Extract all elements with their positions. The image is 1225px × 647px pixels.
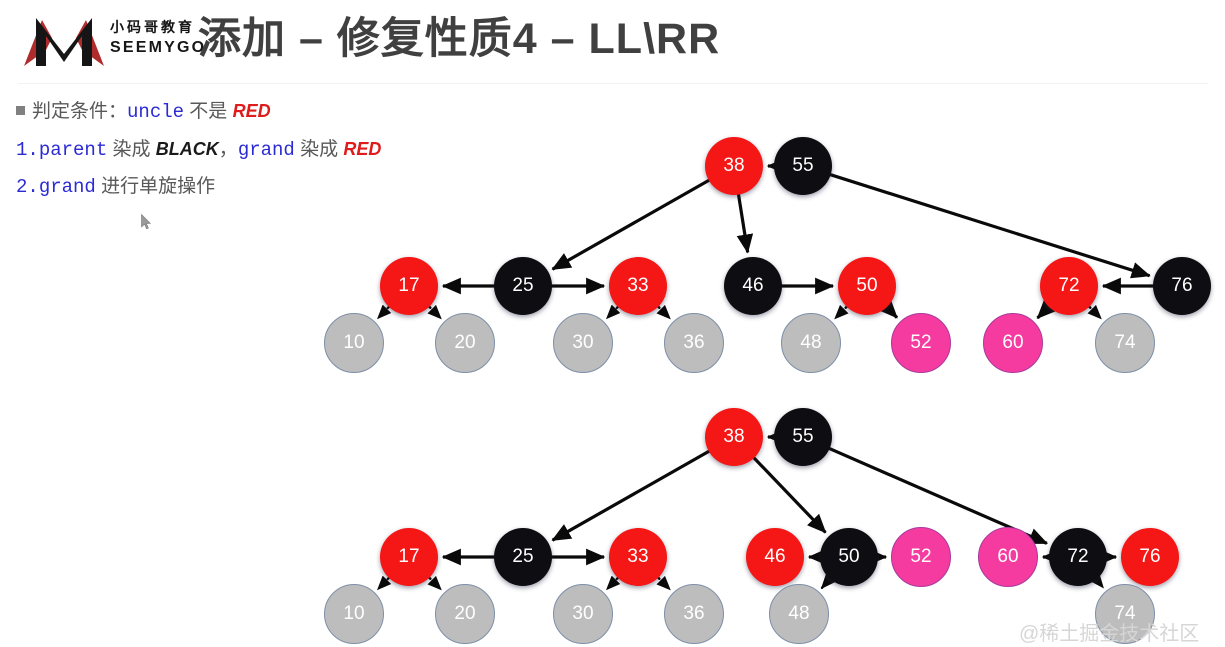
square-bullet-icon	[16, 106, 25, 115]
bullet-line-3: 2.grand 进行单旋操作	[16, 168, 486, 206]
tree-node-76-after-rotation: 76	[1121, 528, 1179, 586]
tree-node-38-after-rotation: 38	[705, 408, 763, 466]
tree-edge	[553, 451, 710, 540]
tree-node-33-after-rotation: 33	[609, 528, 667, 586]
tree-node-36-after-rotation: 36	[664, 584, 724, 644]
mouse-cursor-icon	[141, 214, 151, 230]
brand-wordmark: 小码哥教育 SEEMYGO	[110, 18, 186, 58]
tree-node-25-after-rotation: 25	[494, 528, 552, 586]
tree-node-25-before-rotation: 25	[494, 257, 552, 315]
tree-edge	[607, 577, 618, 589]
tree-node-17-after-rotation: 17	[380, 528, 438, 586]
header-divider	[18, 83, 1208, 84]
slide-canvas: 小码哥教育 SEEMYGO 添加 – 修复性质4 – LL\RR 判定条件：un…	[0, 0, 1225, 647]
step-1-comma: ，	[219, 139, 238, 160]
tree-node-38-before-rotation: 38	[705, 137, 763, 195]
tree-edge	[378, 577, 389, 589]
tree-node-55-after-rotation: 55	[774, 408, 832, 466]
page-title: 添加 – 修复性质4 – LL\RR	[198, 8, 720, 70]
brand-en: SEEMYGO	[110, 38, 186, 58]
bullet-line-2: 1.parent 染成 BLACK，grand 染成 RED	[16, 130, 486, 168]
step-2-text: 进行单旋操作	[96, 176, 215, 197]
tree-edge	[753, 457, 825, 532]
tree-node-46-before-rotation: 46	[724, 257, 782, 315]
tree-edge	[738, 194, 747, 253]
step-1-index: 1.	[16, 139, 39, 161]
tree-edge	[429, 306, 441, 318]
tree-edge	[1038, 306, 1050, 318]
tree-node-30-before-rotation: 30	[553, 313, 613, 373]
tree-node-10-after-rotation: 10	[324, 584, 384, 644]
seemygo-mountain-logo-icon	[22, 14, 106, 68]
tree-edge	[658, 577, 670, 589]
tree-node-55-before-rotation: 55	[774, 137, 832, 195]
bullet-list: 判定条件：uncle 不是 RED 1.parent 染成 BLACK，gran…	[16, 92, 486, 206]
bullet-line-1: 判定条件：uncle 不是 RED	[16, 92, 486, 130]
step-2-index: 2.	[16, 176, 39, 198]
tree-edge	[378, 306, 389, 318]
tree-edge	[822, 578, 830, 588]
keyword-red-2: RED	[343, 139, 381, 159]
code-uncle: uncle	[127, 101, 184, 123]
code-parent: parent	[39, 139, 107, 161]
code-grand-1: grand	[238, 139, 295, 161]
tree-edge	[886, 306, 897, 317]
brand-cn: 小码哥教育	[110, 18, 186, 36]
keyword-red: RED	[233, 101, 271, 121]
tree-node-36-before-rotation: 36	[664, 313, 724, 373]
tree-node-76-before-rotation: 76	[1153, 257, 1211, 315]
tree-node-33-before-rotation: 33	[609, 257, 667, 315]
tree-node-60-after-rotation: 60	[978, 527, 1038, 587]
slide-header: 小码哥教育 SEEMYGO 添加 – 修复性质4 – LL\RR	[0, 0, 1225, 80]
tree-node-74-before-rotation: 74	[1095, 313, 1155, 373]
tree-edge	[658, 306, 670, 318]
tree-node-30-after-rotation: 30	[553, 584, 613, 644]
tree-node-48-before-rotation: 48	[781, 313, 841, 373]
tree-node-50-after-rotation: 50	[820, 528, 878, 586]
tree-node-46-after-rotation: 46	[746, 528, 804, 586]
tree-node-60-before-rotation: 60	[983, 313, 1043, 373]
condition-mid: 不是	[184, 101, 233, 122]
tree-edge	[1089, 306, 1101, 318]
tree-node-52-before-rotation: 52	[891, 313, 951, 373]
tree-edge	[553, 180, 710, 269]
tree-node-17-before-rotation: 17	[380, 257, 438, 315]
tree-edge	[836, 306, 848, 318]
tree-node-72-before-rotation: 72	[1040, 257, 1098, 315]
condition-label: 判定条件：	[32, 101, 127, 122]
tree-edge	[429, 577, 441, 589]
brand-logo: 小码哥教育 SEEMYGO	[22, 12, 184, 70]
tree-edge	[1096, 579, 1103, 587]
code-grand-2: grand	[39, 176, 96, 198]
tree-node-72-after-rotation: 72	[1049, 528, 1107, 586]
tree-node-20-after-rotation: 20	[435, 584, 495, 644]
tree-node-52-after-rotation: 52	[891, 527, 951, 587]
step-1-mid-2: 染成	[295, 139, 344, 160]
step-1-mid-1: 染成	[107, 139, 156, 160]
tree-node-10-before-rotation: 10	[324, 313, 384, 373]
tree-node-48-after-rotation: 48	[769, 584, 829, 644]
keyword-black: BLACK	[156, 139, 219, 159]
tree-node-20-before-rotation: 20	[435, 313, 495, 373]
tree-edge	[607, 306, 618, 318]
watermark: @稀土掘金技术社区	[1019, 617, 1199, 646]
tree-node-50-before-rotation: 50	[838, 257, 896, 315]
